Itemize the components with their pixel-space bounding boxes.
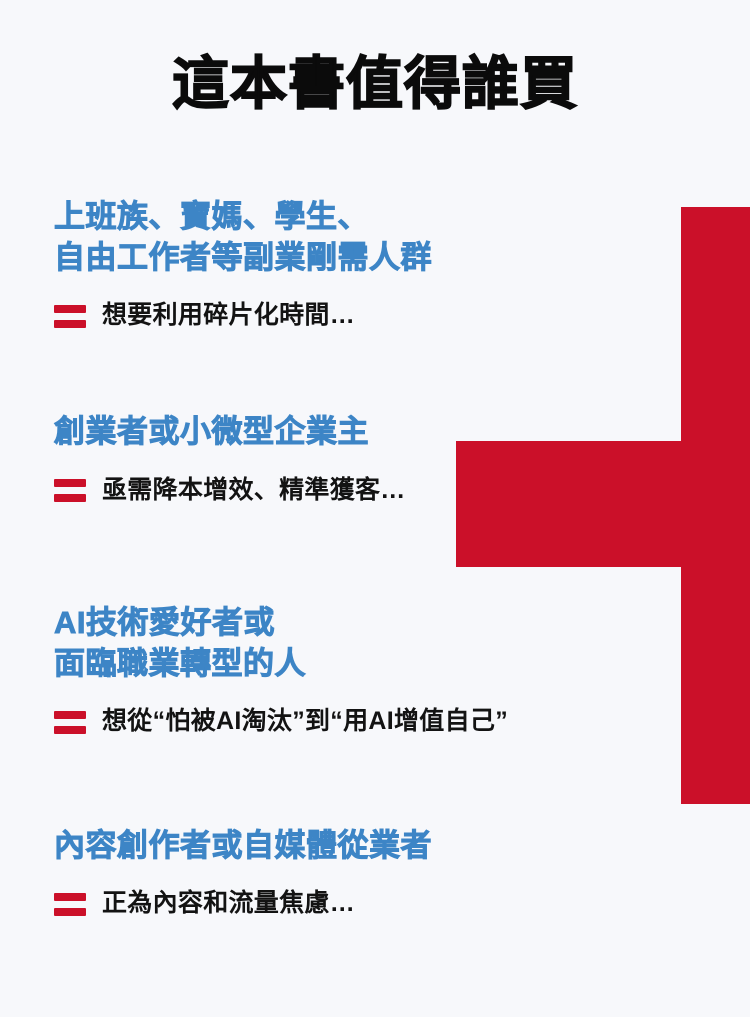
audience-heading: 創業者或小微型企業主: [54, 411, 750, 452]
equals-bar-icon: [54, 893, 86, 916]
equals-bar-icon: [54, 711, 86, 734]
audience-heading: AI技術愛好者或 面臨職業轉型的人: [54, 602, 750, 684]
audience-bullet-text: 亟需降本增效、精準獲客…: [102, 475, 406, 505]
audience-heading: 內容創作者或自媒體從業者: [54, 825, 750, 866]
audience-bullet-row: 想從“怕被AI淘汰”到“用AI增值自己”: [54, 706, 750, 736]
audience-bullet-text: 想從“怕被AI淘汰”到“用AI增值自己”: [102, 706, 508, 736]
equals-bar-icon: [54, 479, 86, 502]
poster-canvas: 這本書值得誰買 上班族、寶媽、學生、 自由工作者等副業剛需人群 想要利用碎片化時…: [0, 0, 750, 1017]
audience-section: 上班族、寶媽、學生、 自由工作者等副業剛需人群 想要利用碎片化時間…: [0, 196, 750, 330]
audience-section-list: 上班族、寶媽、學生、 自由工作者等副業剛需人群 想要利用碎片化時間… 創業者或小…: [0, 196, 750, 918]
audience-bullet-text: 想要利用碎片化時間…: [102, 300, 355, 330]
audience-bullet-row: 正為內容和流量焦慮…: [54, 888, 750, 918]
audience-bullet-row: 想要利用碎片化時間…: [54, 300, 750, 330]
audience-bullet-row: 亟需降本增效、精準獲客…: [54, 475, 750, 505]
audience-section: 內容創作者或自媒體從業者 正為內容和流量焦慮…: [0, 825, 750, 918]
audience-section: 創業者或小微型企業主 亟需降本增效、精準獲客…: [0, 411, 750, 504]
page-title: 這本書值得誰買: [0, 52, 750, 118]
audience-bullet-text: 正為內容和流量焦慮…: [102, 888, 355, 918]
audience-heading: 上班族、寶媽、學生、 自由工作者等副業剛需人群: [54, 196, 750, 278]
audience-section: AI技術愛好者或 面臨職業轉型的人 想從“怕被AI淘汰”到“用AI增值自己”: [0, 602, 750, 736]
equals-bar-icon: [54, 305, 86, 328]
